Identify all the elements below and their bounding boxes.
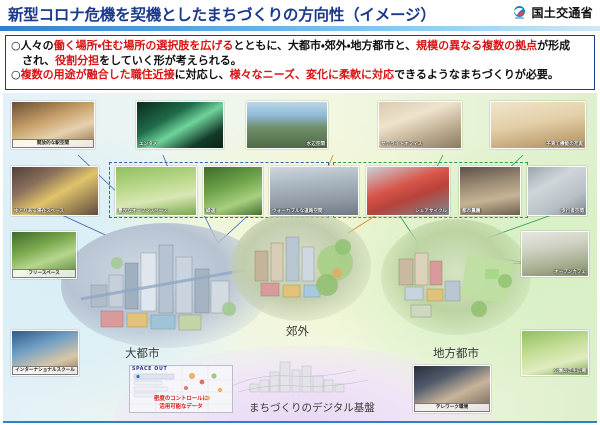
ministry-logo: 国土交通省 bbox=[512, 4, 593, 21]
photo-caption-public-space: 歩行者空間 bbox=[528, 208, 586, 215]
photo-walkable-street[interactable]: ウォーカブルな道路空間 bbox=[269, 166, 359, 216]
photo-caption-open-space: 豊かなオープンスペース bbox=[116, 208, 196, 215]
cluster-suburb bbox=[231, 211, 371, 321]
photo-caption-greenway: 緑道 bbox=[204, 208, 262, 215]
photo-greenway[interactable]: 緑道 bbox=[203, 166, 263, 216]
photo-caption-childcare: 子育て機能の充実 bbox=[491, 141, 585, 148]
summary-textbox: ○人々の働く場所・住む場所の選択肢を広げるとともに、大都市・郊外・地方都市と、規… bbox=[5, 35, 595, 90]
summary-l1-a: ○人々の bbox=[11, 39, 54, 52]
digital-base-label: まちづくりのデジタル基盤 bbox=[249, 400, 375, 415]
spaceout-data-panel: SPACE OUT 密度の bbox=[129, 365, 233, 413]
diagram-canvas: 大都市 郊外 地方都市 まちづくりのデジタル基盤 bbox=[3, 93, 597, 423]
region-label-local: 地方都市 bbox=[433, 345, 479, 361]
photo-caption-entertainment: エンタメ bbox=[137, 141, 223, 148]
photo-caption-open-air-cafe: オープンカフェ bbox=[522, 269, 588, 276]
photo-caption-urban-farm: 都市農園 bbox=[460, 208, 520, 215]
photo-satellite-office[interactable]: サテライトオフィス bbox=[378, 101, 462, 149]
summary-line-2: され、役割分担をしていく形が考えられる。 bbox=[11, 54, 589, 69]
summary-line-3: ○複数の用途が融合した職住近接に対応し、様々なニーズ、変化に柔軟に対応できるよう… bbox=[11, 68, 589, 83]
photo-caption-lobby: 開放的な駅空間 bbox=[12, 139, 94, 148]
summary-l3-d: 様々なニーズ、変化に柔軟に対応 bbox=[230, 68, 394, 81]
photo-free-space[interactable]: フリースペース bbox=[11, 231, 77, 279]
photo-international-school[interactable]: インターナショナルスクール bbox=[11, 330, 79, 376]
summary-l1-b: 働く場所・住む場所の選択肢を広げる bbox=[54, 39, 234, 52]
photo-caption-share-cycle: シェアサイクル bbox=[367, 208, 449, 215]
photo-share-cycle[interactable]: シェアサイクル bbox=[366, 166, 450, 216]
photo-public-space[interactable]: 歩行者空間 bbox=[527, 166, 587, 216]
photo-caption-waterfront: 水辺空間 bbox=[247, 141, 327, 148]
slide-root: 新型コロナ危機を契機としたまちづくりの方向性（イメージ） 国土交通省 ○人々の働… bbox=[0, 0, 600, 425]
summary-l2-a: され、 bbox=[22, 54, 55, 67]
photo-stay-space[interactable]: ゆとりある滞在スペース bbox=[11, 166, 99, 216]
photo-open-air-cafe[interactable]: オープンカフェ bbox=[521, 231, 589, 277]
region-label-suburb: 郊外 bbox=[286, 323, 309, 339]
photo-park-lawn[interactable]: 公園の芝生広場 bbox=[521, 330, 589, 376]
photo-open-space[interactable]: 豊かなオープンスペース bbox=[115, 166, 197, 216]
photo-childcare[interactable]: 子育て機能の充実 bbox=[490, 101, 586, 149]
photo-caption-telework: テレワーク環境 bbox=[414, 403, 490, 412]
summary-l2-b: 役割分担 bbox=[55, 54, 99, 67]
slide-header: 新型コロナ危機を契機としたまちづくりの方向性（イメージ） 国土交通省 bbox=[0, 0, 600, 31]
photo-telework[interactable]: テレワーク環境 bbox=[413, 365, 491, 413]
spaceout-caption: 密度のコントロールに bbox=[130, 396, 232, 403]
summary-l3-b: 複数の用途が融合した職住近接 bbox=[21, 68, 175, 81]
digital-skyline-illustration bbox=[228, 356, 378, 402]
region-label-metropolis: 大都市 bbox=[125, 345, 160, 361]
photo-urban-farm[interactable]: 都市農園 bbox=[459, 166, 521, 216]
spaceout-caption-2: 活用可能なデータ bbox=[130, 404, 232, 411]
summary-l1-c: とともに、大都市・郊外・地方都市と、 bbox=[233, 39, 416, 52]
cluster-local-city bbox=[381, 219, 531, 335]
photo-caption-walkable-street: ウォーカブルな道路空間 bbox=[270, 208, 358, 215]
summary-l1-d: 規模の異なる複数の拠点 bbox=[416, 39, 537, 52]
page-title: 新型コロナ危機を契機としたまちづくりの方向性（イメージ） bbox=[8, 3, 436, 25]
summary-l2-c: をしていく形が考えられる。 bbox=[99, 54, 242, 67]
ministry-name: 国土交通省 bbox=[531, 4, 593, 21]
photo-caption-satellite-office: サテライトオフィス bbox=[379, 141, 461, 148]
photo-caption-international-school: インターナショナルスクール bbox=[12, 366, 78, 375]
photo-lobby[interactable]: 開放的な駅空間 bbox=[11, 101, 95, 149]
summary-l3-e: できるようなまちづくりが必要。 bbox=[394, 68, 559, 81]
summary-l3-a: ○ bbox=[11, 68, 21, 81]
mlit-wave-mark-icon bbox=[512, 5, 527, 20]
summary-line-1: ○人々の働く場所・住む場所の選択肢を広げるとともに、大都市・郊外・地方都市と、規… bbox=[11, 39, 589, 54]
spaceout-brand: SPACE OUT bbox=[132, 367, 167, 372]
photo-caption-park-lawn: 公園の芝生広場 bbox=[522, 368, 588, 375]
summary-l1-e: が形成 bbox=[537, 39, 570, 52]
photo-waterfront[interactable]: 水辺空間 bbox=[246, 101, 328, 149]
header-rule bbox=[0, 26, 600, 31]
photo-caption-stay-space: ゆとりある滞在スペース bbox=[12, 208, 98, 215]
photo-caption-free-space: フリースペース bbox=[12, 269, 76, 278]
summary-l3-c: に対応し、 bbox=[175, 68, 230, 81]
photo-entertainment[interactable]: エンタメ bbox=[136, 101, 224, 149]
